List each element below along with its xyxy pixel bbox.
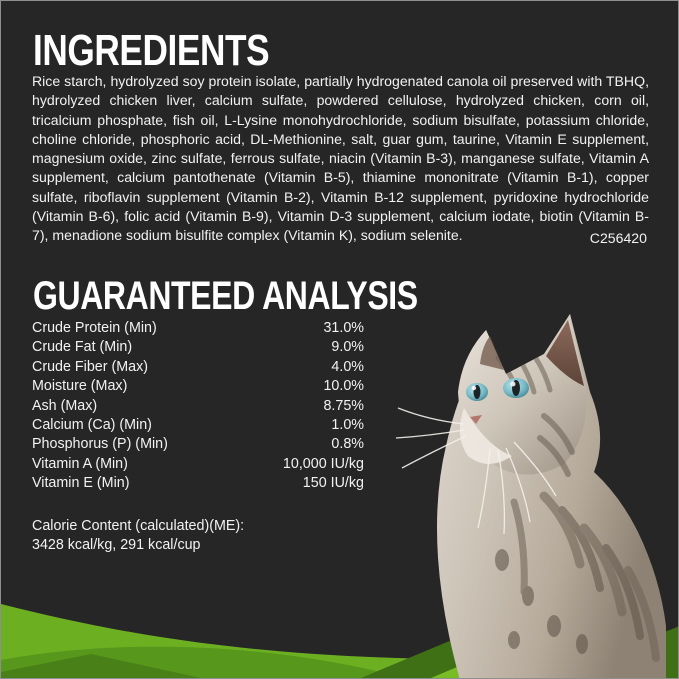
- guaranteed-analysis-table: Crude Protein (Min) 31.0% Crude Fat (Min…: [32, 319, 364, 494]
- nutrient-value: 10,000 IU/kg: [240, 455, 364, 474]
- nutrient-label: Ash (Max): [32, 397, 240, 416]
- nutrient-value: 9.0%: [240, 338, 364, 357]
- product-code: C256420: [590, 229, 647, 248]
- nutrient-label: Crude Protein (Min): [32, 319, 240, 338]
- ingredients-heading: INGREDIENTS: [33, 29, 269, 73]
- nutrient-label: Vitamin E (Min): [32, 474, 240, 493]
- cat-photo: [394, 296, 679, 679]
- calorie-content-block: Calorie Content (calculated)(ME): 3428 k…: [32, 517, 244, 556]
- table-row: Ash (Max) 8.75%: [32, 397, 364, 416]
- calorie-content-label: Calorie Content (calculated)(ME):: [32, 517, 244, 536]
- ingredients-text: Rice starch, hydrolyzed soy protein isol…: [32, 72, 649, 246]
- nutrient-label: Moisture (Max): [32, 377, 240, 396]
- nutrient-value: 0.8%: [240, 435, 364, 454]
- nutrient-label: Crude Fiber (Max): [32, 358, 240, 377]
- calorie-content-value: 3428 kcal/kg, 291 kcal/cup: [32, 536, 244, 555]
- table-row: Crude Fat (Min) 9.0%: [32, 338, 364, 357]
- nutrient-value: 150 IU/kg: [240, 474, 364, 493]
- nutrient-label: Phosphorus (P) (Min): [32, 435, 240, 454]
- table-row: Vitamin E (Min) 150 IU/kg: [32, 474, 364, 493]
- nutrient-label: Calcium (Ca) (Min): [32, 416, 240, 435]
- table-row: Calcium (Ca) (Min) 1.0%: [32, 416, 364, 435]
- guaranteed-analysis-heading: GUARANTEED ANALYSIS: [33, 276, 418, 316]
- nutrient-value: 8.75%: [240, 397, 364, 416]
- nutrient-label: Vitamin A (Min): [32, 455, 240, 474]
- pet-food-label-panel: INGREDIENTS Rice starch, hydrolyzed soy …: [0, 0, 679, 679]
- nutrient-value: 4.0%: [240, 358, 364, 377]
- nutrient-value: 10.0%: [240, 377, 364, 396]
- table-row: Crude Fiber (Max) 4.0%: [32, 358, 364, 377]
- nutrient-label: Crude Fat (Min): [32, 338, 240, 357]
- table-row: Crude Protein (Min) 31.0%: [32, 319, 364, 338]
- table-row: Moisture (Max) 10.0%: [32, 377, 364, 396]
- table-row: Vitamin A (Min) 10,000 IU/kg: [32, 455, 364, 474]
- table-row: Phosphorus (P) (Min) 0.8%: [32, 435, 364, 454]
- nutrient-value: 1.0%: [240, 416, 364, 435]
- nutrient-value: 31.0%: [240, 319, 364, 338]
